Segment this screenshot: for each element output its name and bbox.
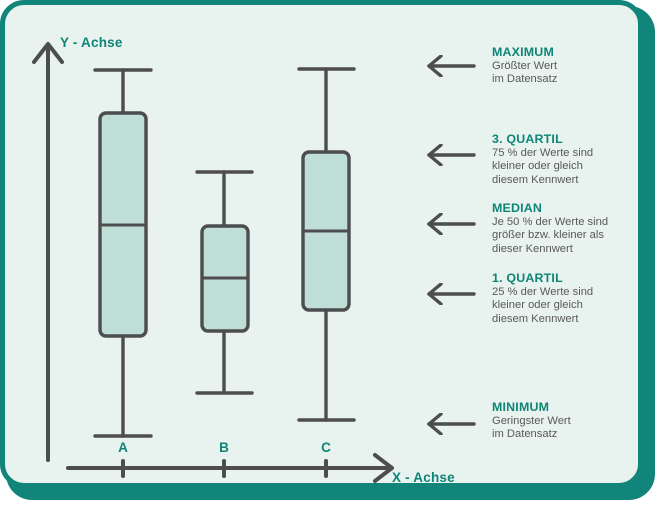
y-axis bbox=[34, 44, 62, 460]
callout-desc-minimum: Geringster Wert im Datensatz bbox=[492, 415, 654, 442]
arrow-left-median bbox=[425, 213, 477, 235]
box-plot-a bbox=[95, 70, 151, 436]
callout-title-first-quartile: 1. QUARTIL bbox=[492, 271, 654, 285]
callout-desc-first-quartile: 25 % der Werte sind kleiner oder gleich … bbox=[492, 286, 654, 326]
category-label-a: A bbox=[103, 440, 143, 455]
callout-median: MEDIAN Je 50 % der Werte sind größer bzw… bbox=[492, 201, 654, 256]
callout-desc-maximum: Größter Wert im Datensatz bbox=[492, 60, 654, 87]
category-label-b: B bbox=[204, 440, 244, 455]
callout-minimum: MINIMUM Geringster Wert im Datensatz bbox=[492, 400, 654, 442]
callout-maximum: MAXIMUM Größter Wert im Datensatz bbox=[492, 45, 654, 87]
arrow-left-maximum bbox=[425, 55, 477, 77]
callout-first-quartile: 1. QUARTIL 25 % der Werte sind kleiner o… bbox=[492, 271, 654, 326]
callout-desc-median: Je 50 % der Werte sind größer bzw. klein… bbox=[492, 216, 654, 256]
callout-desc-third-quartile: 75 % der Werte sind kleiner oder gleich … bbox=[492, 147, 654, 187]
callout-title-minimum: MINIMUM bbox=[492, 400, 654, 414]
callout-title-third-quartile: 3. QUARTIL bbox=[492, 132, 654, 146]
box-plot-b bbox=[197, 172, 252, 393]
callout-third-quartile: 3. QUARTIL 75 % der Werte sind kleiner o… bbox=[492, 132, 654, 187]
arrow-left-minimum bbox=[425, 413, 477, 435]
box-plot-c bbox=[299, 69, 354, 420]
category-label-c: C bbox=[306, 440, 346, 455]
boxplot-infographic: Y - Achse X - Achse A B C MAXIMUM Größte… bbox=[0, 0, 661, 506]
y-axis-label: Y - Achse bbox=[60, 35, 123, 50]
callout-title-median: MEDIAN bbox=[492, 201, 654, 215]
arrow-left-third-quartile bbox=[425, 144, 477, 166]
arrow-left-first-quartile bbox=[425, 283, 477, 305]
callout-title-maximum: MAXIMUM bbox=[492, 45, 654, 59]
x-axis-label: X - Achse bbox=[392, 470, 455, 485]
x-axis bbox=[68, 455, 392, 481]
